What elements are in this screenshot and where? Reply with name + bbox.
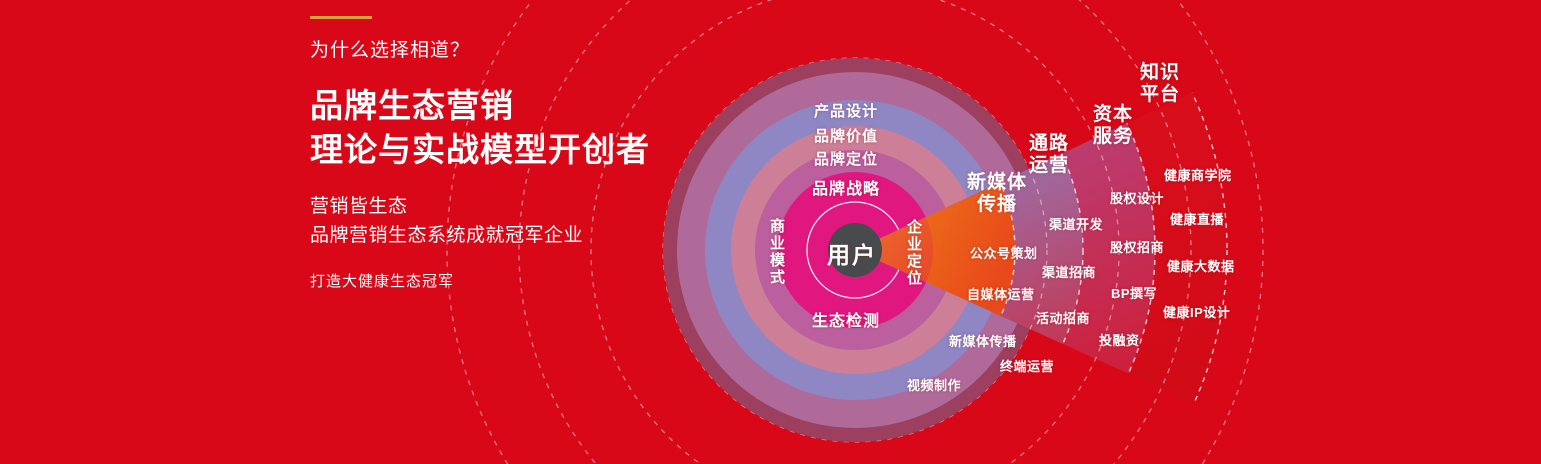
- tagline: 打造大健康生态冠军: [310, 270, 740, 291]
- subtitle-block: 营销皆生态 品牌营销生态系统成就冠军企业: [310, 193, 740, 250]
- eyebrow-question: 为什么选择相道？: [310, 35, 740, 62]
- copy-block: 为什么选择相道？ 品牌生态营销 理论与实战模型开创者 营销皆生态 品牌营销生态系…: [310, 16, 740, 291]
- subtitle-line-1: 营销皆生态: [310, 193, 740, 222]
- headline-line-1: 品牌生态营销: [310, 84, 740, 128]
- promo-banner: 为什么选择相道？ 品牌生态营销 理论与实战模型开创者 营销皆生态 品牌营销生态系…: [0, 0, 1541, 464]
- core-circle: [828, 223, 882, 277]
- ecosystem-radial-diagram: [0, 0, 1541, 464]
- gold-rule-divider: [310, 16, 372, 19]
- page-title: 品牌生态营销 理论与实战模型开创者: [310, 84, 740, 171]
- headline-line-2: 理论与实战模型开创者: [310, 128, 740, 172]
- subtitle-line-2: 品牌营销生态系统成就冠军企业: [310, 222, 740, 251]
